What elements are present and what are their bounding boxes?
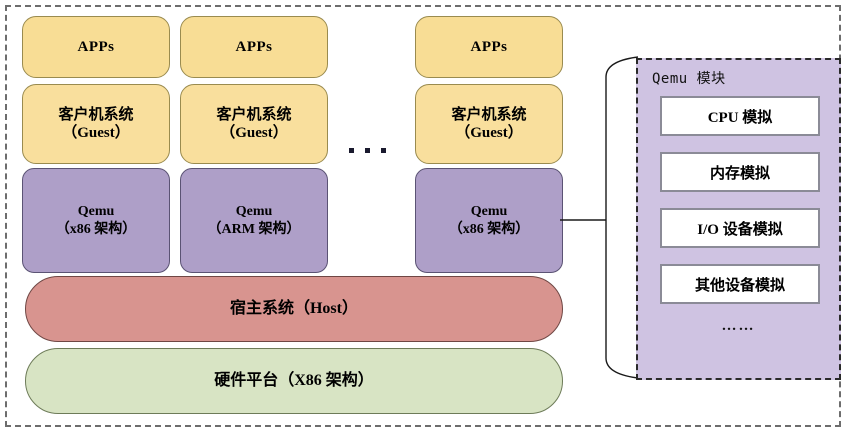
ellipsis-dot-2	[365, 148, 370, 153]
vm-columns-ellipsis	[349, 148, 386, 153]
vm-column-1-guest-box: 客户机系统 （Guest）	[22, 84, 170, 164]
qemu-module-panel: Qemu 模块 CPU 模拟 内存模拟 I/O 设备模拟 其他设备模拟 ……	[636, 58, 841, 380]
qemu-module-item-memory-label: 内存模拟	[710, 162, 770, 183]
qemu-module-item-memory[interactable]: 内存模拟	[660, 152, 820, 192]
vm-column-1-apps-label: APPs	[78, 38, 115, 56]
host-system-label: 宿主系统（Host）	[230, 299, 358, 319]
qemu-module-panel-title: Qemu 模块	[652, 68, 726, 88]
hardware-platform-bar: 硬件平台（X86 架构）	[25, 348, 563, 414]
vm-column-2-qemu-label: Qemu （ARM 架构）	[208, 203, 301, 237]
qemu-module-item-io-device-label: I/O 设备模拟	[697, 218, 782, 239]
vm-column-2-apps-box: APPs	[180, 16, 328, 78]
vm-column-3-guest-label: 客户机系统 （Guest）	[451, 106, 526, 143]
qemu-module-item-other-device-label: 其他设备模拟	[695, 274, 785, 295]
qemu-module-item-cpu[interactable]: CPU 模拟	[660, 96, 820, 136]
qemu-module-item-cpu-label: CPU 模拟	[708, 106, 773, 127]
vm-column-2-apps-label: APPs	[236, 38, 273, 56]
qemu-module-more-indicator: ……	[638, 318, 839, 335]
vm-column-3-qemu-box: Qemu （x86 架构）	[415, 168, 563, 273]
diagram-canvas: APPs 客户机系统 （Guest） Qemu （x86 架构） APPs 客户…	[0, 0, 847, 436]
hardware-platform-label: 硬件平台（X86 架构）	[214, 371, 374, 391]
qemu-module-item-other-device[interactable]: 其他设备模拟	[660, 264, 820, 304]
ellipsis-dot-3	[381, 148, 386, 153]
qemu-module-item-io-device[interactable]: I/O 设备模拟	[660, 208, 820, 248]
vm-column-1-apps-box: APPs	[22, 16, 170, 78]
vm-column-2-guest-box: 客户机系统 （Guest）	[180, 84, 328, 164]
vm-column-1-guest-label: 客户机系统 （Guest）	[58, 106, 133, 143]
vm-column-1-qemu-box: Qemu （x86 架构）	[22, 168, 170, 273]
host-system-bar: 宿主系统（Host）	[25, 276, 563, 342]
vm-column-2-qemu-box: Qemu （ARM 架构）	[180, 168, 328, 273]
vm-column-2-guest-label: 客户机系统 （Guest）	[216, 106, 291, 143]
vm-column-3-guest-box: 客户机系统 （Guest）	[415, 84, 563, 164]
ellipsis-dot-1	[349, 148, 354, 153]
vm-column-3-apps-box: APPs	[415, 16, 563, 78]
qemu-module-connector	[560, 55, 645, 380]
vm-column-3-qemu-label: Qemu （x86 架构）	[449, 203, 530, 237]
vm-column-3-apps-label: APPs	[471, 38, 508, 56]
vm-column-1-qemu-label: Qemu （x86 架构）	[56, 203, 137, 237]
